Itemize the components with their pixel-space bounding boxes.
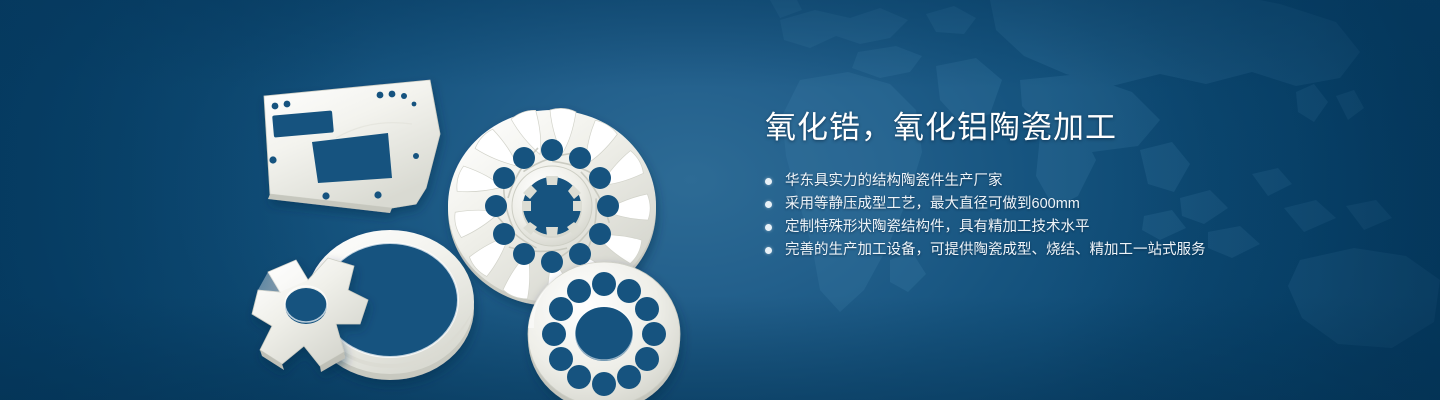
page-title: 氧化锆，氧化铝陶瓷加工 bbox=[765, 108, 1385, 148]
feature-list: 华东具实力的结构陶瓷件生产厂家 采用等静压成型工艺，最大直径可做到600mm 定… bbox=[765, 170, 1385, 262]
ceramic-products-photo bbox=[240, 38, 700, 390]
bullet-dot-icon bbox=[765, 247, 772, 254]
product-banner: 氧化锆，氧化铝陶瓷加工 华东具实力的结构陶瓷件生产厂家 采用等静压成型工艺，最大… bbox=[0, 0, 1440, 400]
banner-copy: 氧化锆，氧化铝陶瓷加工 华东具实力的结构陶瓷件生产厂家 采用等静压成型工艺，最大… bbox=[765, 108, 1385, 262]
ceramic-machined-plate bbox=[264, 80, 440, 213]
feature-text: 采用等静压成型工艺，最大直径可做到600mm bbox=[785, 196, 1080, 212]
feature-text: 完善的生产加工设备，可提供陶瓷成型、烧结、精加工一站式服务 bbox=[785, 242, 1206, 258]
list-item: 完善的生产加工设备，可提供陶瓷成型、烧结、精加工一站式服务 bbox=[765, 239, 1385, 262]
feature-text: 定制特殊形状陶瓷结构件，具有精加工技术水平 bbox=[785, 219, 1090, 235]
bullet-dot-icon bbox=[765, 201, 772, 208]
list-item: 定制特殊形状陶瓷结构件，具有精加工技术水平 bbox=[765, 216, 1385, 239]
list-item: 采用等静压成型工艺，最大直径可做到600mm bbox=[765, 193, 1385, 216]
bullet-dot-icon bbox=[765, 178, 772, 185]
feature-text: 华东具实力的结构陶瓷件生产厂家 bbox=[785, 173, 1003, 189]
bullet-dot-icon bbox=[765, 224, 772, 231]
ceramic-perforated-flange-ring bbox=[528, 262, 680, 400]
list-item: 华东具实力的结构陶瓷件生产厂家 bbox=[765, 170, 1385, 193]
